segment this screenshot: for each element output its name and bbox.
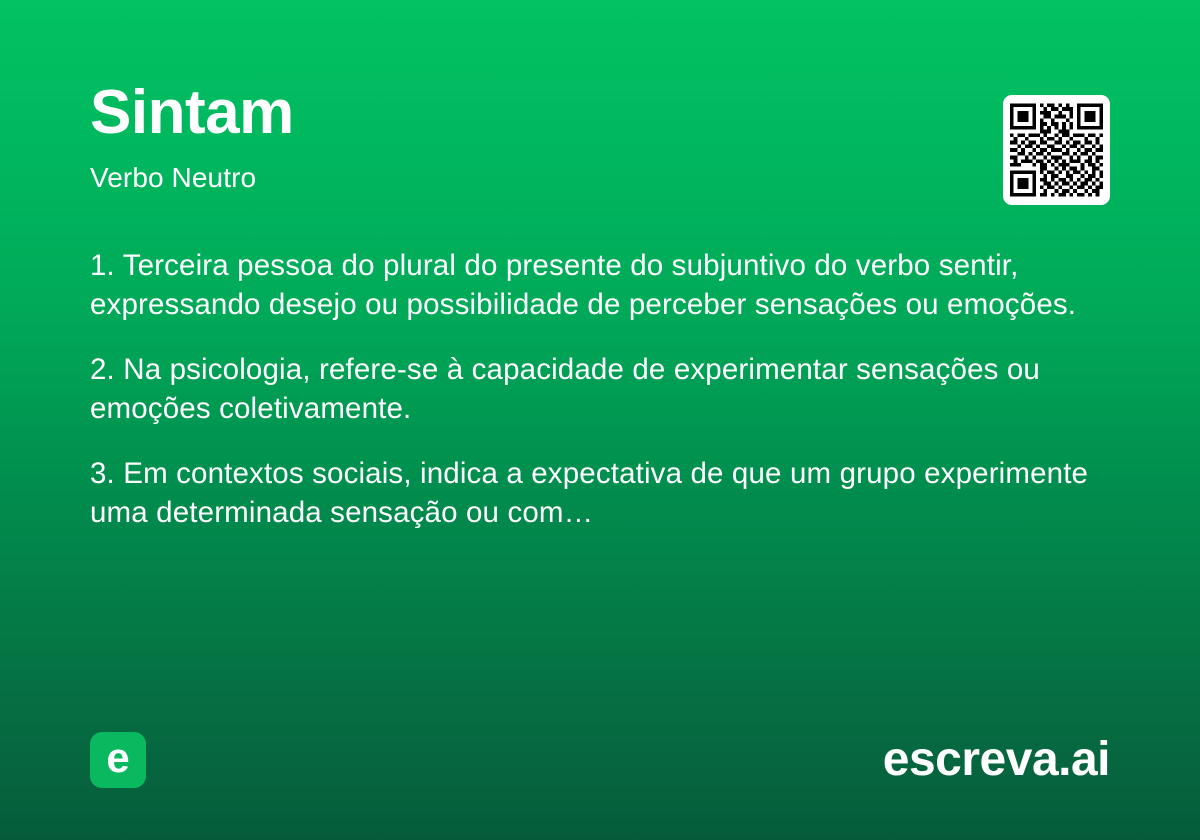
qr-code[interactable]: [1003, 95, 1110, 205]
brand-logo[interactable]: e: [90, 732, 146, 788]
definition-list: 1. Terceira pessoa do plural do presente…: [90, 247, 1090, 532]
definition-card: Sintam Verbo Neutro 1. Terceira pessoa d…: [0, 0, 1200, 840]
card-header: Sintam Verbo Neutro: [90, 82, 970, 192]
brand-wordmark[interactable]: escreva.ai: [883, 736, 1110, 784]
definition-item-2: 2. Na psicologia, refere-se à capacidade…: [90, 351, 1090, 428]
qr-code-icon: [1010, 103, 1103, 197]
page-title: Sintam: [90, 82, 970, 144]
word-class-label: Verbo Neutro: [90, 164, 970, 192]
definition-item-3: 3. Em contextos sociais, indica a expect…: [90, 455, 1090, 532]
brand-logo-letter: e: [106, 737, 129, 779]
card-footer: e escreva.ai: [90, 732, 1110, 788]
definition-item-1: 1. Terceira pessoa do plural do presente…: [90, 247, 1090, 324]
